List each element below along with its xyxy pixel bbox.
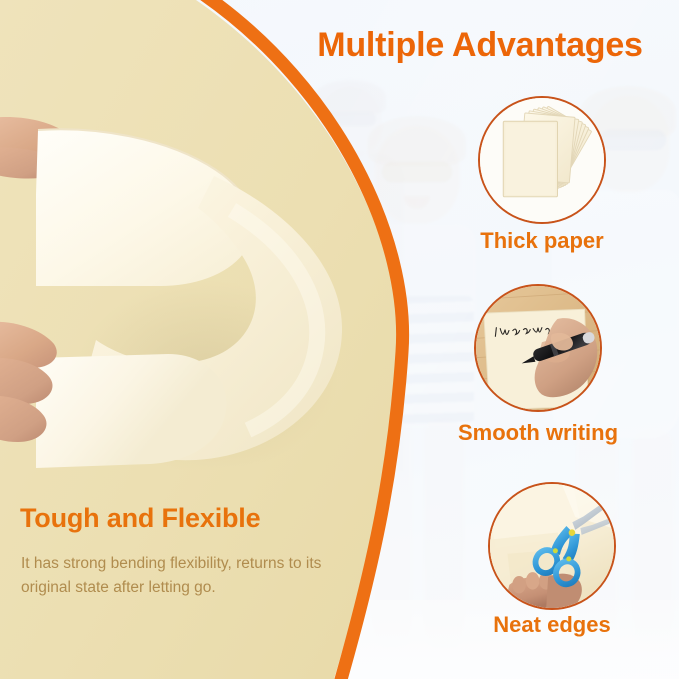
feature-label-neat-edges: Neat edges (452, 612, 652, 638)
hands (504, 572, 582, 608)
page-title: Multiple Advantages (282, 26, 678, 65)
feature-label-smooth-writing: Smooth writing (438, 420, 638, 446)
feature-circle-neat-edges[interactable] (488, 482, 616, 610)
bent-sheet-photo (0, 90, 360, 470)
hero-title: Tough and Flexible (20, 503, 260, 534)
feature-label-thick-paper: Thick paper (446, 228, 638, 254)
paper-stack-icon (480, 98, 604, 222)
feature-circle-thick-paper[interactable] (478, 96, 606, 224)
hero-description: It has strong bending flexibility, retur… (21, 552, 343, 599)
feature-circle-smooth-writing[interactable] (474, 284, 602, 412)
product-infographic: Multiple Advantages Tough and Flexible I… (0, 0, 679, 679)
scissors-cutting-icon (490, 484, 614, 608)
hand-writing-pen-icon (476, 286, 600, 410)
